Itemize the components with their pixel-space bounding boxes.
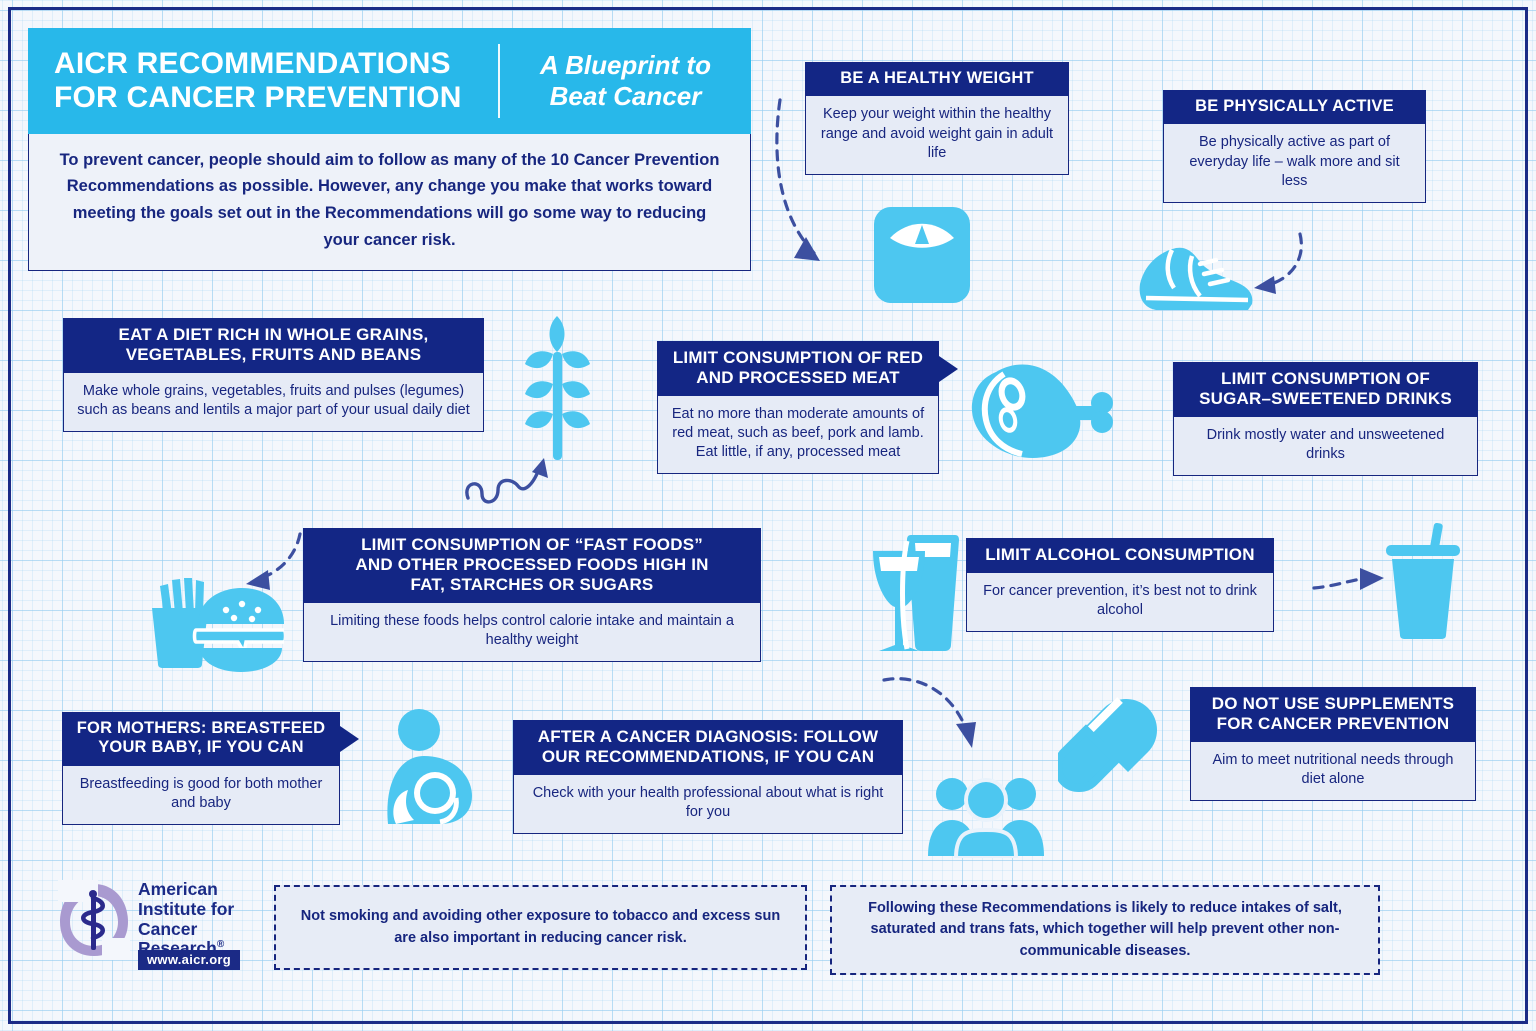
callout-title: LIMIT CONSUMPTION OF SUGAR–SWEETENED DRI… (1173, 362, 1478, 417)
callout-body: Eat no more than moderate amounts of red… (657, 396, 939, 474)
callout-supplements: DO NOT USE SUPPLEMENTS FOR CANCER PREVEN… (1190, 687, 1476, 801)
callout-title-line1: FOR MOTHERS: BREASTFEED (77, 719, 325, 737)
callout-title: LIMIT CONSUMPTION OF RED AND PROCESSED M… (657, 341, 939, 396)
aicr-website-url[interactable]: www.aicr.org (138, 950, 240, 970)
wheat-stalk-icon (521, 312, 593, 464)
callout-title-line3: FAT, STARCHES OR SUGARS (411, 575, 654, 594)
intro-paragraph: To prevent cancer, people should aim to … (28, 134, 751, 271)
aicr-logo-name: American Institute for Cancer Research® (138, 880, 234, 959)
group-of-people-icon (924, 772, 1048, 858)
aicr-caduceus-logo-icon (58, 880, 130, 960)
callout-body: Breastfeeding is good for both mother an… (62, 766, 340, 825)
soda-cup-icon (1380, 523, 1466, 641)
footer-note-nutrients: Following these Recommendations is likel… (830, 885, 1380, 975)
poster-header: AICR RECOMMENDATIONS FOR CANCER PREVENTI… (28, 28, 751, 134)
callout-whole-grains: EAT A DIET RICH IN WHOLE GRAINS, VEGETAB… (63, 318, 484, 432)
callout-title-line2: AND OTHER PROCESSED FOODS HIGH IN (355, 555, 708, 574)
logo-name-line1: American (138, 880, 234, 900)
dashed-arrow-shoe-to-right (1248, 228, 1308, 298)
callout-title: AFTER A CANCER DIAGNOSIS: FOLLOW OUR REC… (513, 720, 903, 775)
callout-title: EAT A DIET RICH IN WHOLE GRAINS, VEGETAB… (63, 318, 484, 373)
page-title: AICR RECOMMENDATIONS FOR CANCER PREVENTI… (28, 47, 498, 114)
callout-body: Drink mostly water and unsweetened drink… (1173, 417, 1478, 476)
callout-title-line2: SUGAR–SWEETENED DRINKS (1199, 389, 1452, 408)
callout-title-line2: FOR CANCER PREVENTION (1217, 714, 1450, 733)
callout-title: BE PHYSICALLY ACTIVE (1163, 90, 1426, 124)
callout-tail (340, 726, 359, 752)
page-title-line2: FOR CANCER PREVENTION (54, 81, 498, 115)
callout-title: FOR MOTHERS: BREASTFEED YOUR BABY, IF YO… (62, 712, 340, 766)
callout-title-line1: EAT A DIET RICH IN WHOLE GRAINS, (119, 325, 429, 344)
callout-title: BE A HEALTHY WEIGHT (805, 62, 1069, 96)
callout-body: For cancer prevention, it’s best not to … (966, 573, 1274, 632)
registered-mark: ® (217, 939, 224, 950)
breastfeeding-icon (378, 708, 482, 826)
bathroom-scale-icon (874, 207, 970, 303)
callout-fast-foods: LIMIT CONSUMPTION OF “FAST FOODS” AND OT… (303, 528, 761, 662)
callout-body: Keep your weight within the healthy rang… (805, 96, 1069, 174)
page-title-line1: AICR RECOMMENDATIONS (54, 47, 498, 81)
wine-and-beer-glasses-icon (855, 527, 963, 659)
callout-title-line1: LIMIT CONSUMPTION OF “FAST FOODS” (361, 535, 703, 554)
callout-title-line2: OUR RECOMMENDATIONS, IF YOU CAN (542, 747, 874, 766)
header-divider (498, 44, 500, 118)
running-shoe-icon (1136, 228, 1256, 320)
callout-body: Aim to meet nutritional needs through di… (1190, 742, 1476, 801)
dashed-arrow-to-soda (1310, 560, 1390, 600)
callout-title-line2: YOUR BABY, IF YOU CAN (98, 738, 304, 756)
callout-title-line1: AFTER A CANCER DIAGNOSIS: FOLLOW (538, 727, 878, 746)
callout-body: Limiting these foods helps control calor… (303, 603, 761, 662)
aicr-logo[interactable]: American Institute for Cancer Research® … (58, 878, 268, 970)
page-subtitle-line2: Beat Cancer (514, 81, 737, 112)
callout-body: Check with your health professional abou… (513, 775, 903, 834)
callout-body: Be physically active as part of everyday… (1163, 124, 1426, 202)
callout-after-diagnosis: AFTER A CANCER DIAGNOSIS: FOLLOW OUR REC… (513, 720, 903, 834)
ham-icon (960, 358, 1120, 466)
page-subtitle-line1: A Blueprint to (514, 50, 737, 81)
callout-physically-active: BE PHYSICALLY ACTIVE Be physically activ… (1163, 90, 1426, 203)
pills-icon (1058, 694, 1162, 794)
callout-title: LIMIT ALCOHOL CONSUMPTION (966, 538, 1274, 573)
callout-title-line1: LIMIT CONSUMPTION OF (1221, 369, 1430, 388)
callout-title-line1: LIMIT CONSUMPTION OF RED (673, 348, 923, 367)
callout-breastfeed: FOR MOTHERS: BREASTFEED YOUR BABY, IF YO… (62, 712, 340, 825)
callout-healthy-weight: BE A HEALTHY WEIGHT Keep your weight wit… (805, 62, 1069, 175)
callout-title-line2: VEGETABLES, FRUITS AND BEANS (126, 345, 422, 364)
callout-body: Make whole grains, vegetables, fruits an… (63, 373, 484, 432)
callout-sugary-drinks: LIMIT CONSUMPTION OF SUGAR–SWEETENED DRI… (1173, 362, 1478, 476)
callout-alcohol: LIMIT ALCOHOL CONSUMPTION For cancer pre… (966, 538, 1274, 632)
callout-tail (939, 356, 958, 382)
infographic-poster: AICR RECOMMENDATIONS FOR CANCER PREVENTI… (0, 0, 1536, 1031)
callout-red-meat: LIMIT CONSUMPTION OF RED AND PROCESSED M… (657, 341, 939, 474)
callout-title-line1: DO NOT USE SUPPLEMENTS (1212, 694, 1454, 713)
callout-title-line2: AND PROCESSED MEAT (696, 368, 900, 387)
footer-note-smoking: Not smoking and avoiding other exposure … (274, 885, 807, 970)
logo-name-line2: Institute for (138, 900, 234, 920)
burger-and-fries-icon (146, 568, 284, 674)
callout-title: DO NOT USE SUPPLEMENTS FOR CANCER PREVEN… (1190, 687, 1476, 742)
page-subtitle: A Blueprint to Beat Cancer (500, 50, 751, 112)
logo-name-line3: Cancer (138, 920, 234, 940)
callout-title: LIMIT CONSUMPTION OF “FAST FOODS” AND OT… (303, 528, 761, 603)
